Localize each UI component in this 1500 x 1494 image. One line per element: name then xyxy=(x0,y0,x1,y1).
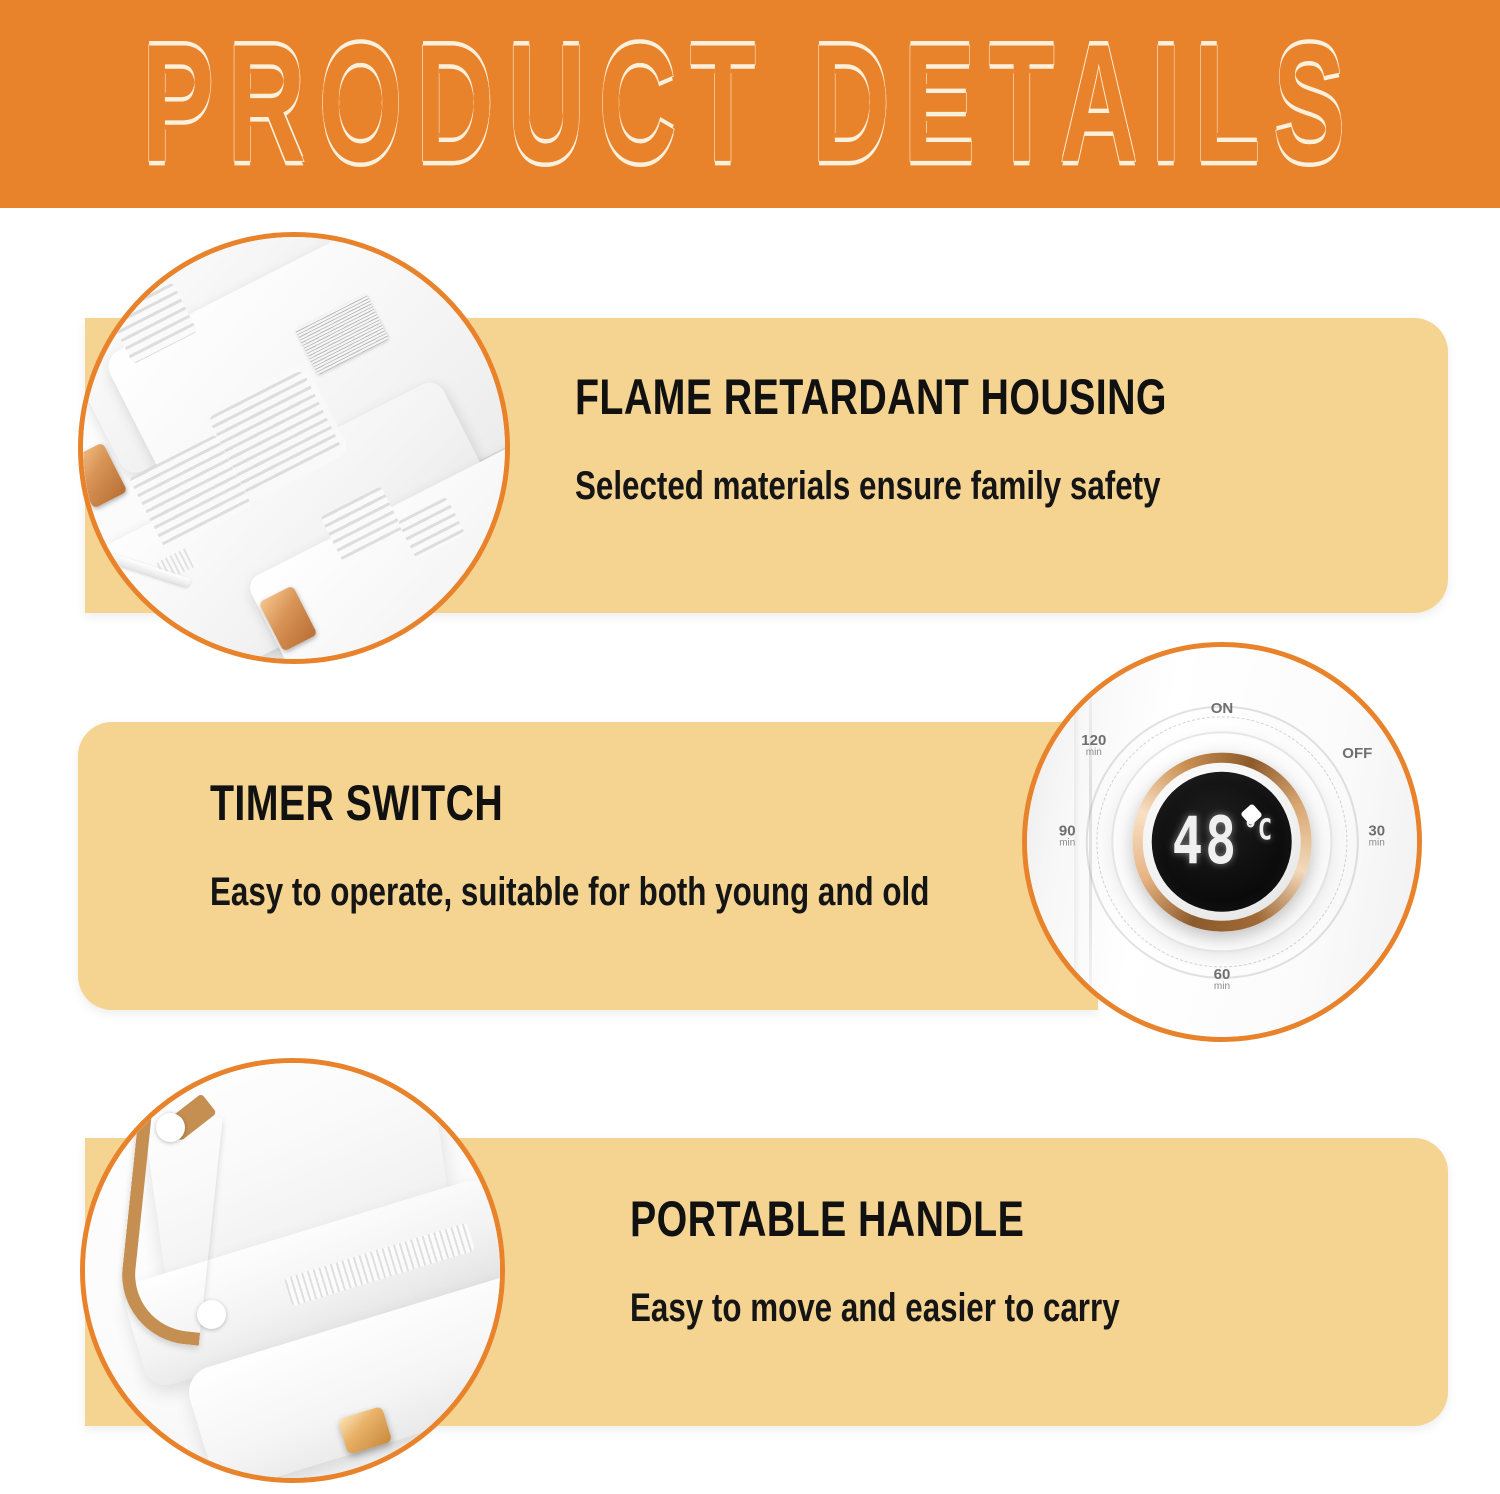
dial-label-120-unit: min xyxy=(1081,749,1106,759)
timer-dial-photo: ON OFF 30 min 60 min 90 min 120 min xyxy=(1027,647,1417,1037)
dial-label-30-unit: min xyxy=(1368,838,1385,848)
dial-label-on: ON xyxy=(1211,701,1234,716)
dial-label-90-min: 90 min xyxy=(1059,823,1076,848)
temperature-value: 48 xyxy=(1172,809,1239,874)
dial-label-off: OFF xyxy=(1342,746,1372,761)
timer-dial[interactable]: ON OFF 30 min 60 min 90 min 120 min xyxy=(1062,682,1382,1002)
dial-label-30-min: 30 min xyxy=(1368,823,1385,848)
folded-heater-carry-strap-photo xyxy=(85,1063,500,1478)
dial-label-60-min: 60 min xyxy=(1214,967,1231,992)
feature-card-timer-switch: TIMER SWITCH Easy to operate, suitable f… xyxy=(78,722,1098,1010)
feature-title-portable-handle: PORTABLE HANDLE xyxy=(630,1191,1125,1248)
dial-led-screen: 48 °C xyxy=(1152,772,1292,912)
dial-label-120-min: 120 min xyxy=(1081,733,1106,758)
feature-title-flame-retardant-housing: FLAME RETARDANT HOUSING xyxy=(575,369,1167,426)
feature-photo-flame-retardant-housing xyxy=(78,232,510,664)
page-title: PRODUCT DETAILS xyxy=(142,20,1358,188)
dial-label-60-unit: min xyxy=(1214,982,1231,992)
feature-subtitle-portable-handle: Easy to move and easier to carry xyxy=(630,1285,1120,1331)
dial-label-90-unit: min xyxy=(1059,838,1076,848)
feature-subtitle-flame-retardant-housing: Selected materials ensure family safety xyxy=(575,463,1161,509)
strap-pin xyxy=(197,1300,226,1329)
heater-rear-housing-photo xyxy=(83,237,505,659)
feature-subtitle-timer-switch: Easy to operate, suitable for both young… xyxy=(210,869,929,915)
feature-photo-timer-switch: ON OFF 30 min 60 min 90 min 120 min xyxy=(1022,642,1422,1042)
header-banner: PRODUCT DETAILS xyxy=(0,0,1500,208)
dial-rose-gold-knob[interactable]: 48 °C xyxy=(1132,752,1311,931)
feature-title-timer-switch: TIMER SWITCH xyxy=(210,775,937,832)
feature-photo-portable-handle xyxy=(80,1058,505,1483)
strap-pin xyxy=(156,1113,185,1142)
